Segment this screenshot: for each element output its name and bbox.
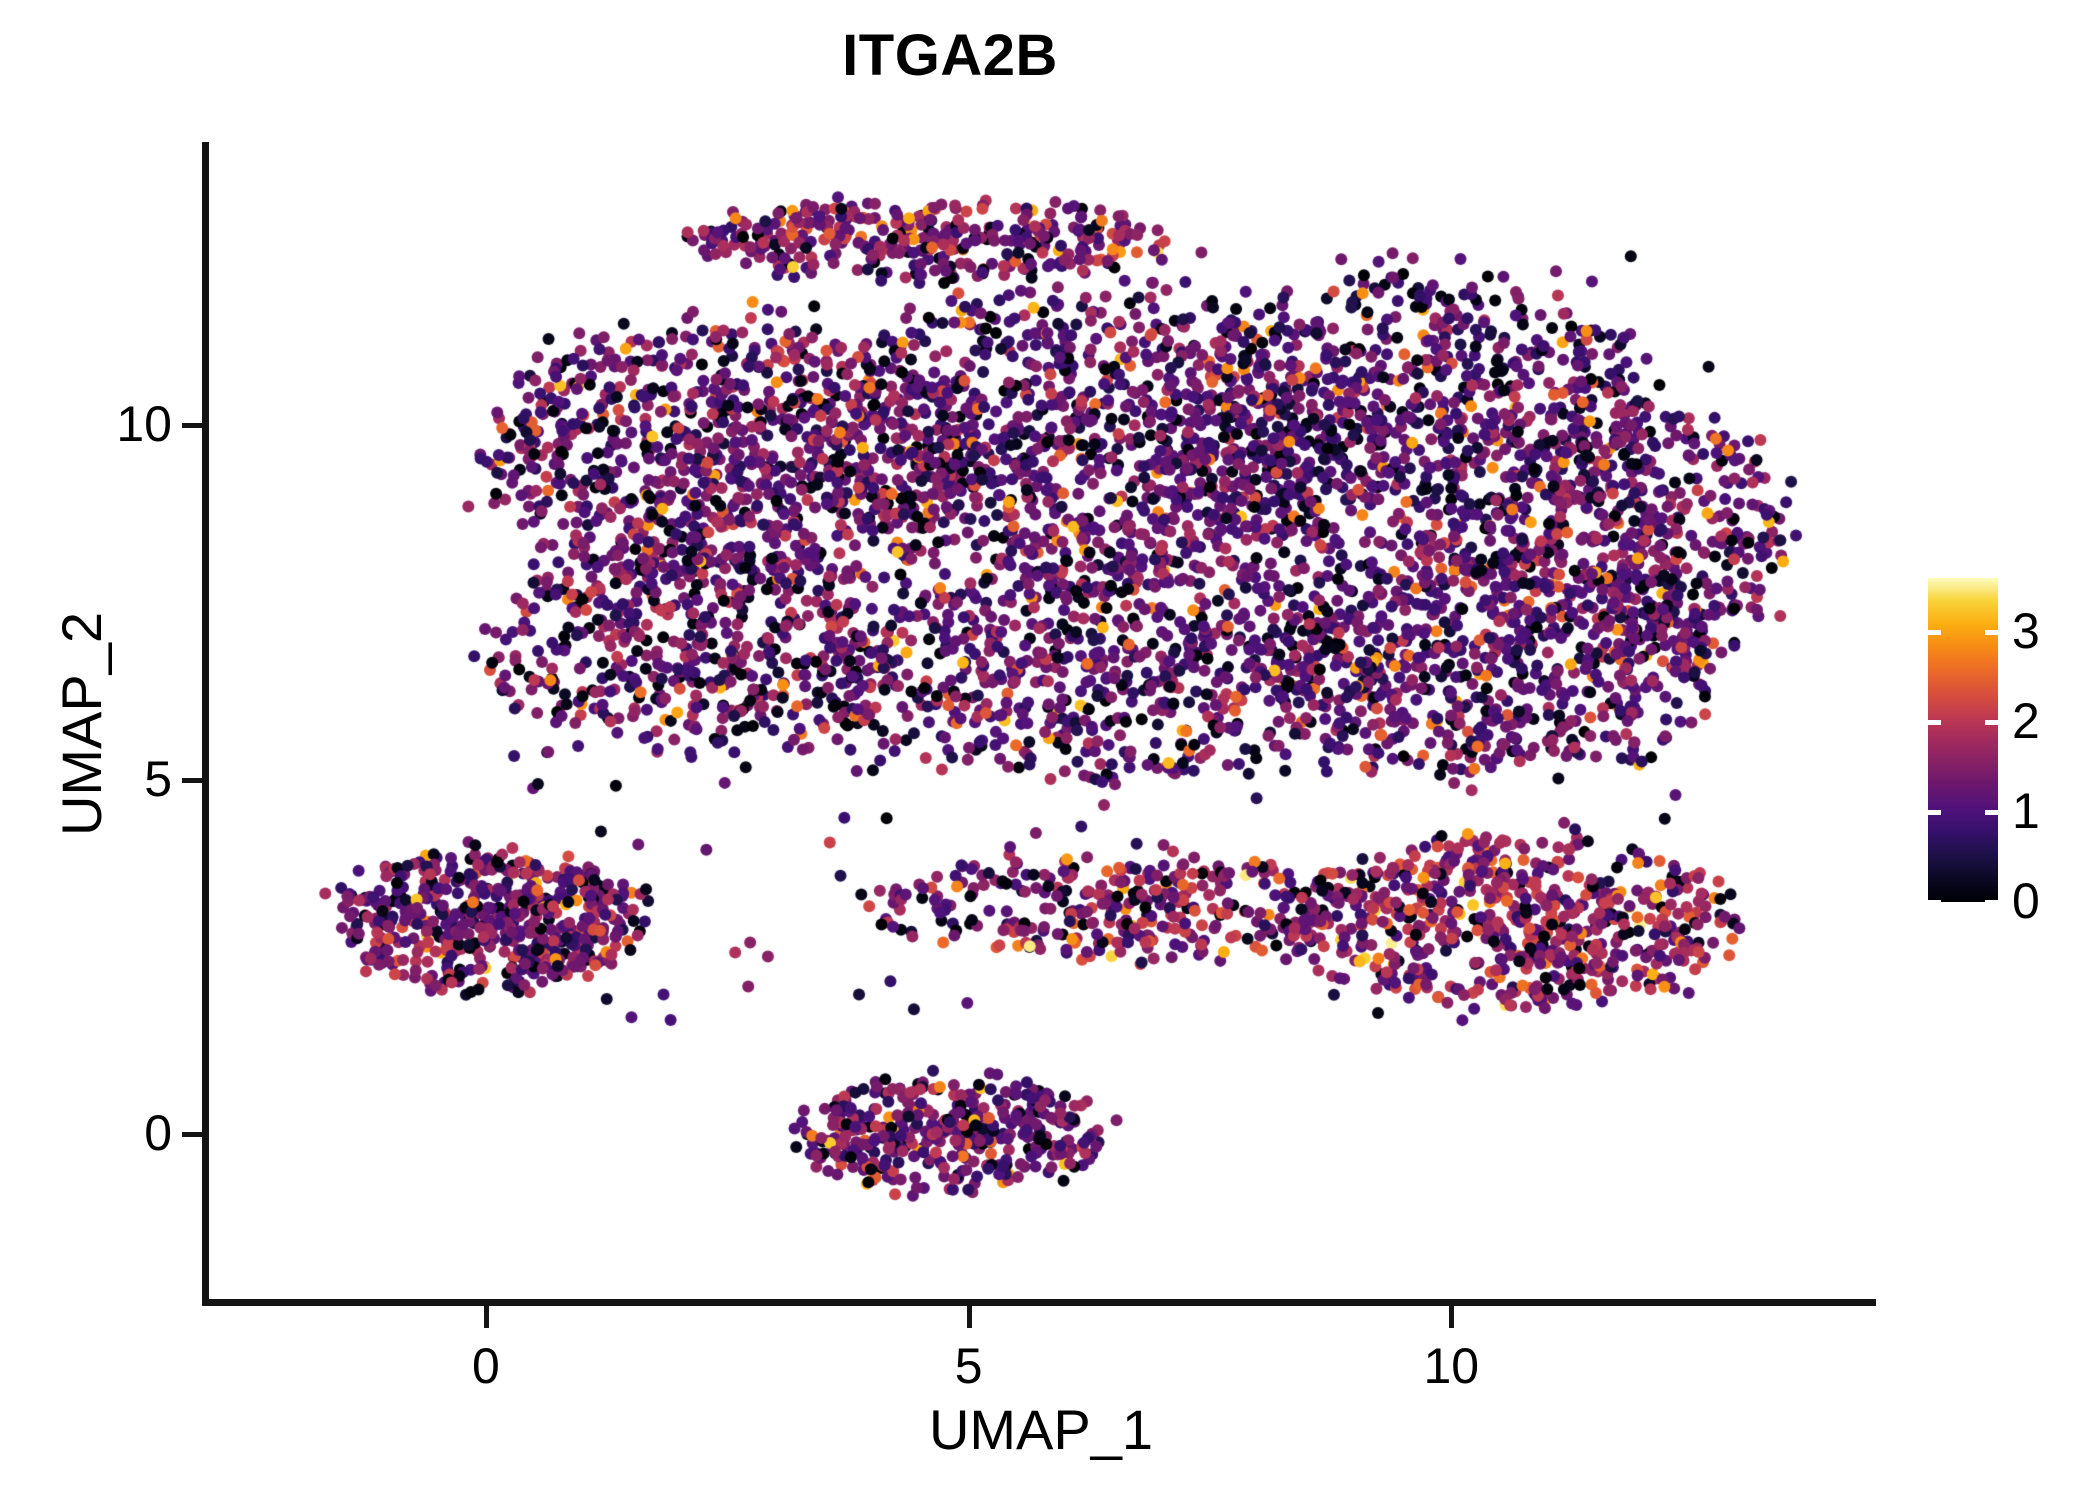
colorbar-tick-mark [1985, 810, 1998, 815]
y-tick-mark [182, 778, 202, 783]
colorbar-tick-mark [1985, 630, 1998, 635]
colorbar-gradient [1928, 578, 1998, 902]
x-axis-title: UMAP_1 [206, 1398, 1876, 1462]
colorbar-tick-mark [1928, 810, 1941, 815]
page-title: ITGA2B [0, 22, 1900, 90]
colorbar-tick-mark [1928, 630, 1941, 635]
y-tick-mark [182, 423, 202, 428]
x-tick-label: 10 [1371, 1338, 1531, 1394]
plot-panel [206, 142, 1876, 1304]
colorbar-tick-label: 0 [2012, 876, 2082, 926]
colorbar-tick-label: 1 [2012, 786, 2082, 836]
colorbar-tick-mark [1928, 900, 1941, 905]
scatter-points-canvas [206, 142, 1876, 1304]
colorbar-tick-label: 3 [2012, 606, 2082, 656]
x-tick-label: 5 [889, 1338, 1049, 1394]
x-axis-line [202, 1299, 1876, 1306]
y-axis-title: UMAP_2 [50, 142, 114, 1306]
colorbar-tick-mark [1985, 720, 1998, 725]
x-tick-mark [1449, 1306, 1454, 1328]
colorbar-tick-mark [1928, 720, 1941, 725]
color-legend: 0123 [1928, 578, 2088, 908]
colorbar-tick-label: 2 [2012, 696, 2082, 746]
feature-plot-figure: ITGA2B 0510 0510 UMAP_1 UMAP_2 0123 [0, 0, 2100, 1500]
y-tick-mark [182, 1132, 202, 1137]
x-tick-label: 0 [406, 1338, 566, 1394]
x-tick-mark [967, 1306, 972, 1328]
y-axis-line [202, 142, 209, 1306]
colorbar-tick-mark [1985, 900, 1998, 905]
x-tick-mark [484, 1306, 489, 1328]
